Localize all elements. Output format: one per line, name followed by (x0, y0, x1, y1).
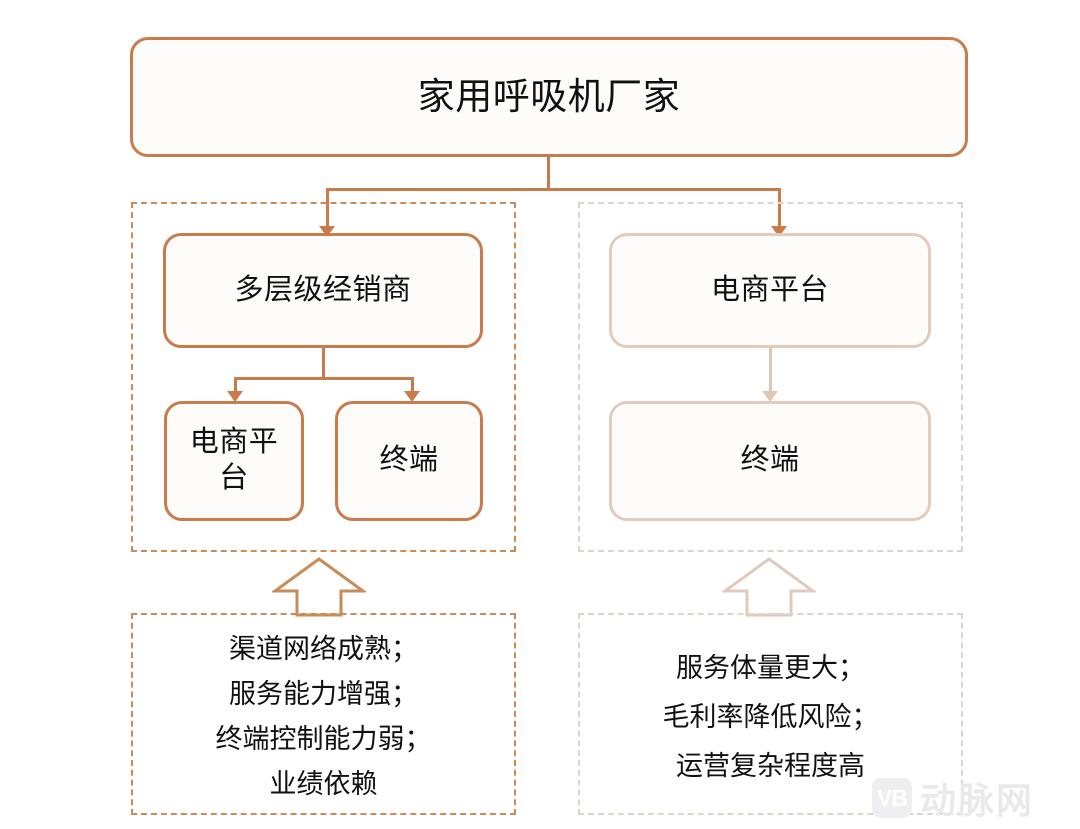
node-ecommerce-platform-right: 电商平台 (609, 233, 931, 348)
note-line: 终端控制能力弱； (216, 717, 432, 756)
note-line: 业绩依赖 (270, 762, 378, 801)
up-arrow-ecommerce (722, 556, 816, 618)
connector-horizontal-bar (326, 188, 781, 191)
note-line: 服务能力增强； (229, 672, 418, 711)
note-line: 渠道网络成熟； (229, 627, 418, 666)
connector-stem-vertical (547, 157, 550, 190)
node-terminal-left: 终端 (335, 401, 483, 521)
node-manufacturer-label: 家用呼吸机厂家 (418, 74, 681, 120)
note-line: 服务体量更大； (676, 646, 865, 685)
node-ecommerce-platform-left: 电商平台 (164, 401, 304, 521)
node-manufacturer: 家用呼吸机厂家 (130, 37, 968, 157)
node-terminal-right: 终端 (609, 401, 931, 521)
node-ecommerce-platform-left-label: 电商平台 (187, 425, 282, 497)
node-ecommerce-platform-right-label: 电商平台 (711, 273, 829, 309)
node-terminal-left-label: 终端 (379, 443, 438, 479)
connector-ecommerce-to-terminal (769, 348, 772, 395)
note-line: 毛利率降低风险； (663, 695, 879, 734)
note-ecommerce-branch: 服务体量更大； 毛利率降低风险； 运营复杂程度高 (578, 613, 963, 815)
diagram-canvas: 家用呼吸机厂家 多层级经销商 电商平台 终端 渠道网络成熟； 服务能力增强； 终… (0, 0, 1080, 829)
note-line: 运营复杂程度高 (676, 744, 865, 783)
connector-distributor-stem (322, 348, 325, 379)
up-arrow-distributor (272, 556, 366, 618)
connector-distributor-bar (234, 377, 414, 380)
node-multi-tier-distributor: 多层级经销商 (163, 233, 483, 348)
node-multi-tier-distributor-label: 多层级经销商 (234, 273, 411, 309)
node-terminal-right-label: 终端 (740, 443, 799, 479)
note-distributor-branch: 渠道网络成熟； 服务能力增强； 终端控制能力弱； 业绩依赖 (131, 613, 516, 815)
